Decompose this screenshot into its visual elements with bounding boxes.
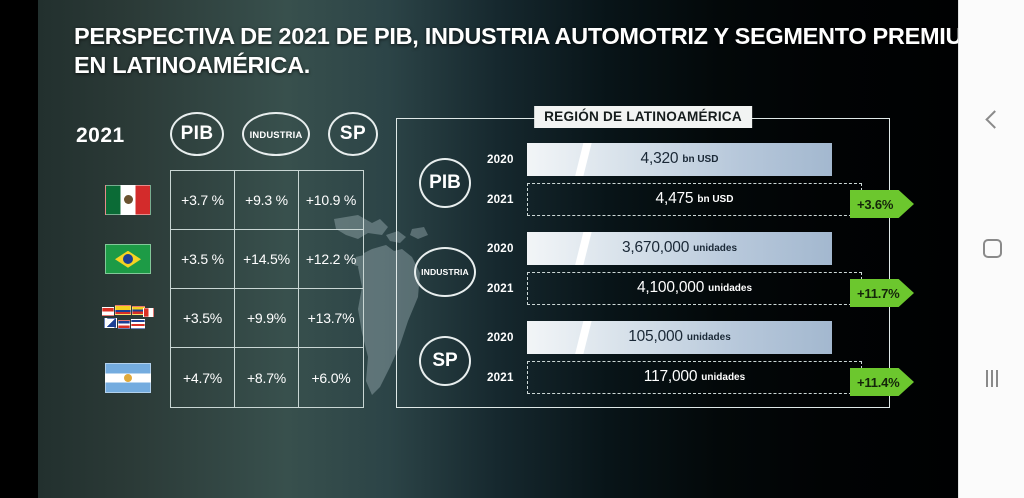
home-button[interactable] xyxy=(959,222,1024,274)
metric-badge-pib: PIB xyxy=(419,158,471,208)
bar-solid-industria-2020: 3,670,000 unidades xyxy=(527,232,832,265)
delta-badge-pib: +3.6% xyxy=(850,190,914,218)
flag-mexico-icon xyxy=(105,185,151,215)
cell-mexico-sp: +10.9 % xyxy=(299,171,363,230)
bar-dashed-industria-2021: 4,100,000 unidades xyxy=(527,272,862,305)
recents-bars-icon xyxy=(986,370,999,387)
country-flag-column xyxy=(96,170,160,408)
letterbox-left xyxy=(0,0,38,498)
column-badge-sp: SP xyxy=(328,112,378,156)
metric-row-industria: INDUSTRIA 2020 3,670,000 unidades 2021 xyxy=(397,226,889,312)
metric-row-sp: SP 2020 105,000 unidades 2021 xyxy=(397,315,889,401)
table-column-badges: PIB INDUSTRIA SP xyxy=(170,112,374,160)
recents-button[interactable] xyxy=(959,352,1024,404)
bar-dashed-pib-2021: 4,475 bn USD xyxy=(527,183,862,216)
cell-andean-pib: +3.5% xyxy=(171,289,235,348)
screen: PERSPECTIVA DE 2021 DE PIB, INDUSTRIA AU… xyxy=(0,0,1024,498)
delta-badge-industria-label: +11.7% xyxy=(857,286,900,301)
cell-brazil-industria: +14.5% xyxy=(235,230,299,289)
metric-badge-industria-label: INDUSTRIA xyxy=(421,267,469,277)
column-badge-industria-label: INDUSTRIA xyxy=(250,129,303,140)
bar-line-industria-2020: 2020 3,670,000 unidades xyxy=(487,230,867,266)
bar-line-pib-2020: 2020 4,320 bn USD xyxy=(487,141,867,177)
flag-slot-argentina xyxy=(96,349,160,409)
flag-cluster-icon xyxy=(102,303,154,335)
bar-value-sp-2020: 105,000 xyxy=(628,328,683,346)
bar-slash-decoration xyxy=(573,143,593,176)
column-badge-pib: PIB xyxy=(170,112,224,156)
bar-unit-sp-2021: unidades xyxy=(701,372,745,383)
slide-title: PERSPECTIVA DE 2021 DE PIB, INDUSTRIA AU… xyxy=(74,22,924,79)
metric-badge-pib-label: PIB xyxy=(429,172,461,194)
delta-badge-sp-label: +11.4% xyxy=(857,375,900,390)
cell-brazil-sp: +12.2 % xyxy=(299,230,363,289)
metric-bars-industria: 2020 3,670,000 unidades 2021 4,100,000 u… xyxy=(487,230,867,310)
bar-line-sp-2021: 2021 117,000 unidades xyxy=(487,359,867,395)
metric-bars-sp: 2020 105,000 unidades 2021 117,000 unida… xyxy=(487,319,867,399)
bar-year-industria-2021: 2021 xyxy=(487,282,527,295)
bar-unit-pib-2020: bn USD xyxy=(682,154,718,165)
bar-unit-pib-2021: bn USD xyxy=(697,194,733,205)
delta-badge-industria: +11.7% xyxy=(850,279,914,307)
bar-unit-industria-2020: unidades xyxy=(693,243,737,254)
flag-brazil-icon xyxy=(105,244,151,274)
country-value-grid: +3.7 % +9.3 % +10.9 % +3.5 % +14.5% +12.… xyxy=(170,170,364,408)
bar-year-sp-2021: 2021 xyxy=(487,371,527,384)
bar-slash-decoration xyxy=(573,321,593,354)
bar-solid-pib-2020: 4,320 bn USD xyxy=(527,143,832,176)
region-panel-title: REGIÓN DE LATINOAMÉRICA xyxy=(534,106,752,128)
title-line-2: EN LATINOAMÉRICA. xyxy=(74,51,924,80)
metric-badge-sp-label: SP xyxy=(432,350,457,372)
metric-bars-pib: 2020 4,320 bn USD 2021 4,475 bn USD xyxy=(487,141,867,221)
bar-year-pib-2021: 2021 xyxy=(487,193,527,206)
flag-slot-mexico xyxy=(96,170,160,230)
bar-line-industria-2021: 2021 4,100,000 unidades xyxy=(487,270,867,306)
delta-badge-sp: +11.4% xyxy=(850,368,914,396)
presentation-slide: PERSPECTIVA DE 2021 DE PIB, INDUSTRIA AU… xyxy=(38,0,958,498)
bar-value-sp-2021: 117,000 xyxy=(644,368,697,386)
cell-argentina-sp: +6.0% xyxy=(299,348,363,407)
cell-argentina-pib: +4.7% xyxy=(171,348,235,407)
column-badge-pib-label: PIB xyxy=(181,123,214,145)
column-badge-industria: INDUSTRIA xyxy=(242,112,310,156)
delta-badge-pib-label: +3.6% xyxy=(857,197,893,212)
bar-value-industria-2021: 4,100,000 xyxy=(637,279,704,297)
metric-badge-industria: INDUSTRIA xyxy=(414,247,476,297)
cell-andean-sp: +13.7% xyxy=(299,289,363,348)
flag-slot-brazil xyxy=(96,230,160,290)
bar-slash-decoration xyxy=(573,232,593,265)
cell-andean-industria: +9.9% xyxy=(235,289,299,348)
home-square-icon xyxy=(983,239,1002,258)
cell-argentina-industria: +8.7% xyxy=(235,348,299,407)
title-line-1: PERSPECTIVA DE 2021 DE PIB, INDUSTRIA AU… xyxy=(74,22,924,51)
country-table: 2021 PIB INDUSTRIA SP xyxy=(74,108,374,408)
chevron-left-icon xyxy=(985,110,1003,128)
android-navigation-bar xyxy=(958,0,1024,498)
bar-line-pib-2021: 2021 4,475 bn USD xyxy=(487,181,867,217)
bar-solid-sp-2020: 105,000 unidades xyxy=(527,321,832,354)
cell-brazil-pib: +3.5 % xyxy=(171,230,235,289)
bar-value-industria-2020: 3,670,000 xyxy=(622,239,689,257)
flag-argentina-icon xyxy=(105,363,151,393)
bar-dashed-sp-2021: 117,000 unidades xyxy=(527,361,862,394)
cell-mexico-pib: +3.7 % xyxy=(171,171,235,230)
back-button[interactable] xyxy=(959,93,1024,145)
bar-unit-industria-2021: unidades xyxy=(708,283,752,294)
bar-year-industria-2020: 2020 xyxy=(487,242,527,255)
metric-row-pib: PIB 2020 4,320 bn USD 2021 4, xyxy=(397,137,889,223)
cell-mexico-industria: +9.3 % xyxy=(235,171,299,230)
flag-slot-andean-cluster xyxy=(96,289,160,349)
bar-value-pib-2021: 4,475 xyxy=(656,190,694,208)
table-year-label: 2021 xyxy=(76,124,125,148)
region-panel: REGIÓN DE LATINOAMÉRICA PIB 2020 4,320 b… xyxy=(396,118,890,408)
column-badge-sp-label: SP xyxy=(340,123,366,145)
bar-unit-sp-2020: unidades xyxy=(687,332,731,343)
metric-badge-sp: SP xyxy=(419,336,471,386)
bar-year-pib-2020: 2020 xyxy=(487,153,527,166)
bar-year-sp-2020: 2020 xyxy=(487,331,527,344)
bar-line-sp-2020: 2020 105,000 unidades xyxy=(487,319,867,355)
bar-value-pib-2020: 4,320 xyxy=(641,150,679,168)
